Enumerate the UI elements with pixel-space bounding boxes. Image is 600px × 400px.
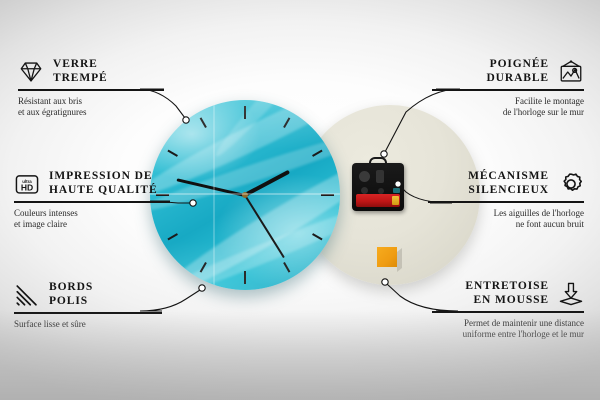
feature-header: BORDS POLIS xyxy=(14,281,164,308)
feature-header: POIGNÉE DURABLE xyxy=(432,58,584,85)
arrow-down-layers-icon xyxy=(558,281,584,307)
feature-divider xyxy=(432,311,584,313)
foam-spacer xyxy=(377,247,397,267)
feature-verre-trempe: VERRE TREMPÉ Résistant aux bris et aux é… xyxy=(18,58,168,119)
feature-poignee-durable: POIGNÉE DURABLE Facilite le montage de l… xyxy=(432,58,584,119)
mechanism-hanger-tab xyxy=(369,157,387,168)
feature-impression-haute-qualite: ultra HD IMPRESSION DE HAUTE QUALITÉ Cou… xyxy=(14,170,172,231)
hour-tick xyxy=(167,150,178,157)
feature-title: MÉCANISME SILENCIEUX xyxy=(468,170,549,197)
feature-subtitle: Les aiguilles de l'horloge ne font aucun… xyxy=(428,208,584,231)
feature-bords-polis: BORDS POLIS Surface lisse et sûre xyxy=(14,281,164,330)
mechanism-port-icon xyxy=(361,187,368,194)
feature-divider xyxy=(18,89,164,91)
feature-subtitle: Facilite le montage de l'horloge sur le … xyxy=(432,96,584,119)
hour-tick xyxy=(244,106,246,119)
hour-tick xyxy=(321,194,334,196)
hour-tick xyxy=(283,262,290,273)
feature-title: BORDS POLIS xyxy=(49,281,93,308)
feature-header: ENTRETOISE EN MOUSSE xyxy=(432,280,584,307)
clock-mechanism-module xyxy=(352,163,404,211)
feature-subtitle: Surface lisse et sûre xyxy=(14,319,164,331)
feature-divider xyxy=(432,89,584,91)
clock-front-view xyxy=(150,100,340,290)
feature-subtitle: Permet de maintenir une distance uniform… xyxy=(432,318,584,341)
hour-tick xyxy=(200,117,207,128)
ultra-hd-icon: ultra HD xyxy=(14,171,40,197)
feature-header: MÉCANISME SILENCIEUX xyxy=(428,170,584,197)
ultra-hd-icon-main-text: HD xyxy=(21,182,33,192)
hour-tick xyxy=(167,233,178,240)
feature-divider xyxy=(14,201,170,203)
hour-tick xyxy=(244,271,246,284)
diagonal-stripes-icon xyxy=(14,282,40,308)
feature-divider xyxy=(428,201,584,203)
infographic-canvas: VERRE TREMPÉ Résistant aux bris et aux é… xyxy=(0,0,600,400)
feature-title: IMPRESSION DE HAUTE QUALITÉ xyxy=(49,170,158,197)
mechanism-dial-icon xyxy=(359,171,370,182)
mechanism-label-icon xyxy=(393,188,400,193)
mechanism-switch-icon xyxy=(376,170,384,183)
feature-header: ultra HD IMPRESSION DE HAUTE QUALITÉ xyxy=(14,170,172,197)
feature-header: VERRE TREMPÉ xyxy=(18,58,168,85)
feature-entretoise-en-mousse: ENTRETOISE EN MOUSSE Permet de maintenir… xyxy=(432,280,584,341)
feature-subtitle: Résistant aux bris et aux égratignures xyxy=(18,96,168,119)
diamond-icon xyxy=(18,59,44,85)
feature-title: ENTRETOISE EN MOUSSE xyxy=(465,280,549,307)
feature-subtitle: Couleurs intenses et image claire xyxy=(14,208,172,231)
feature-title: POIGNÉE DURABLE xyxy=(486,58,549,85)
feature-title: VERRE TREMPÉ xyxy=(53,58,108,85)
gear-icon xyxy=(558,171,584,197)
hands-center-cap xyxy=(242,192,248,198)
hanging-picture-frame-icon xyxy=(558,59,584,85)
feature-divider xyxy=(14,312,162,314)
battery-icon xyxy=(356,194,400,207)
feature-mecanisme-silencieux: MÉCANISME SILENCIEUX Les aiguilles de l'… xyxy=(428,170,584,231)
